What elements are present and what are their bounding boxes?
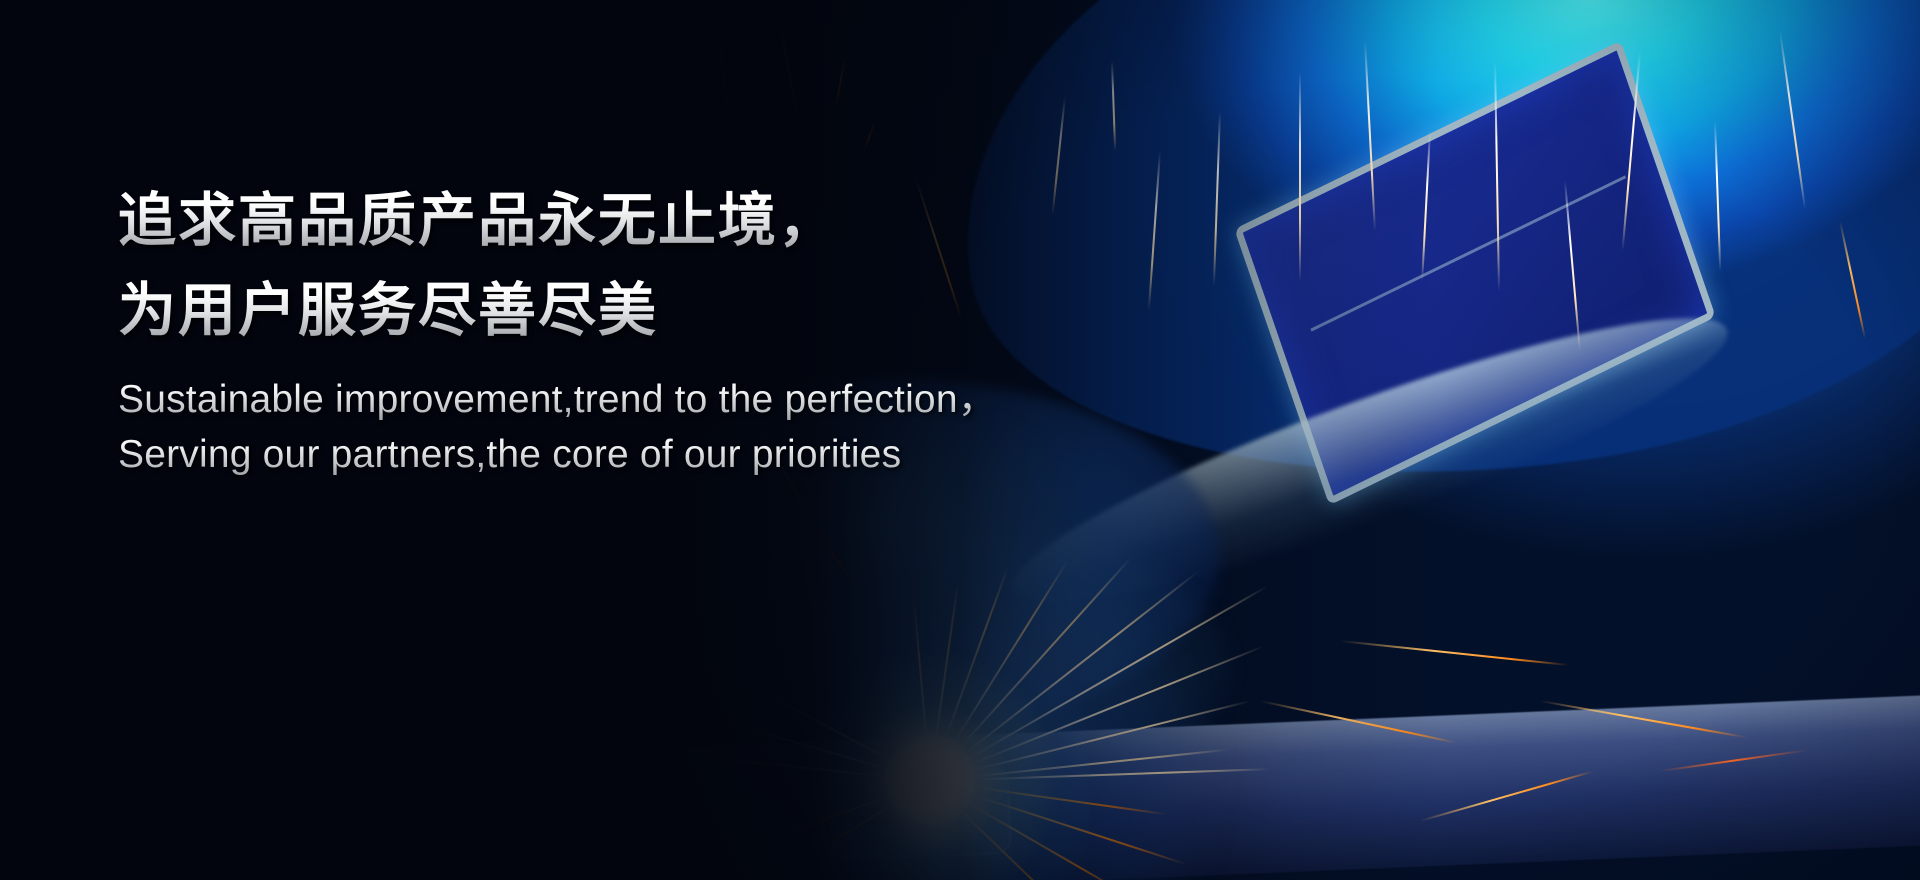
subheadline-line-2: Serving our partners,the core of our pri… [118,427,997,482]
hero-copy: 追求高品质产品永无止境， 为用户服务尽善尽美 Sustainable impro… [118,176,997,482]
headline-line-2: 为用户服务尽善尽美 [118,266,997,356]
subheadline-line-1: Sustainable improvement,trend to the per… [118,372,997,427]
arc-core [885,735,975,825]
hero-banner: 追求高品质产品永无止境， 为用户服务尽善尽美 Sustainable impro… [0,0,1920,880]
headline-line-1: 追求高品质产品永无止境， [118,176,997,266]
